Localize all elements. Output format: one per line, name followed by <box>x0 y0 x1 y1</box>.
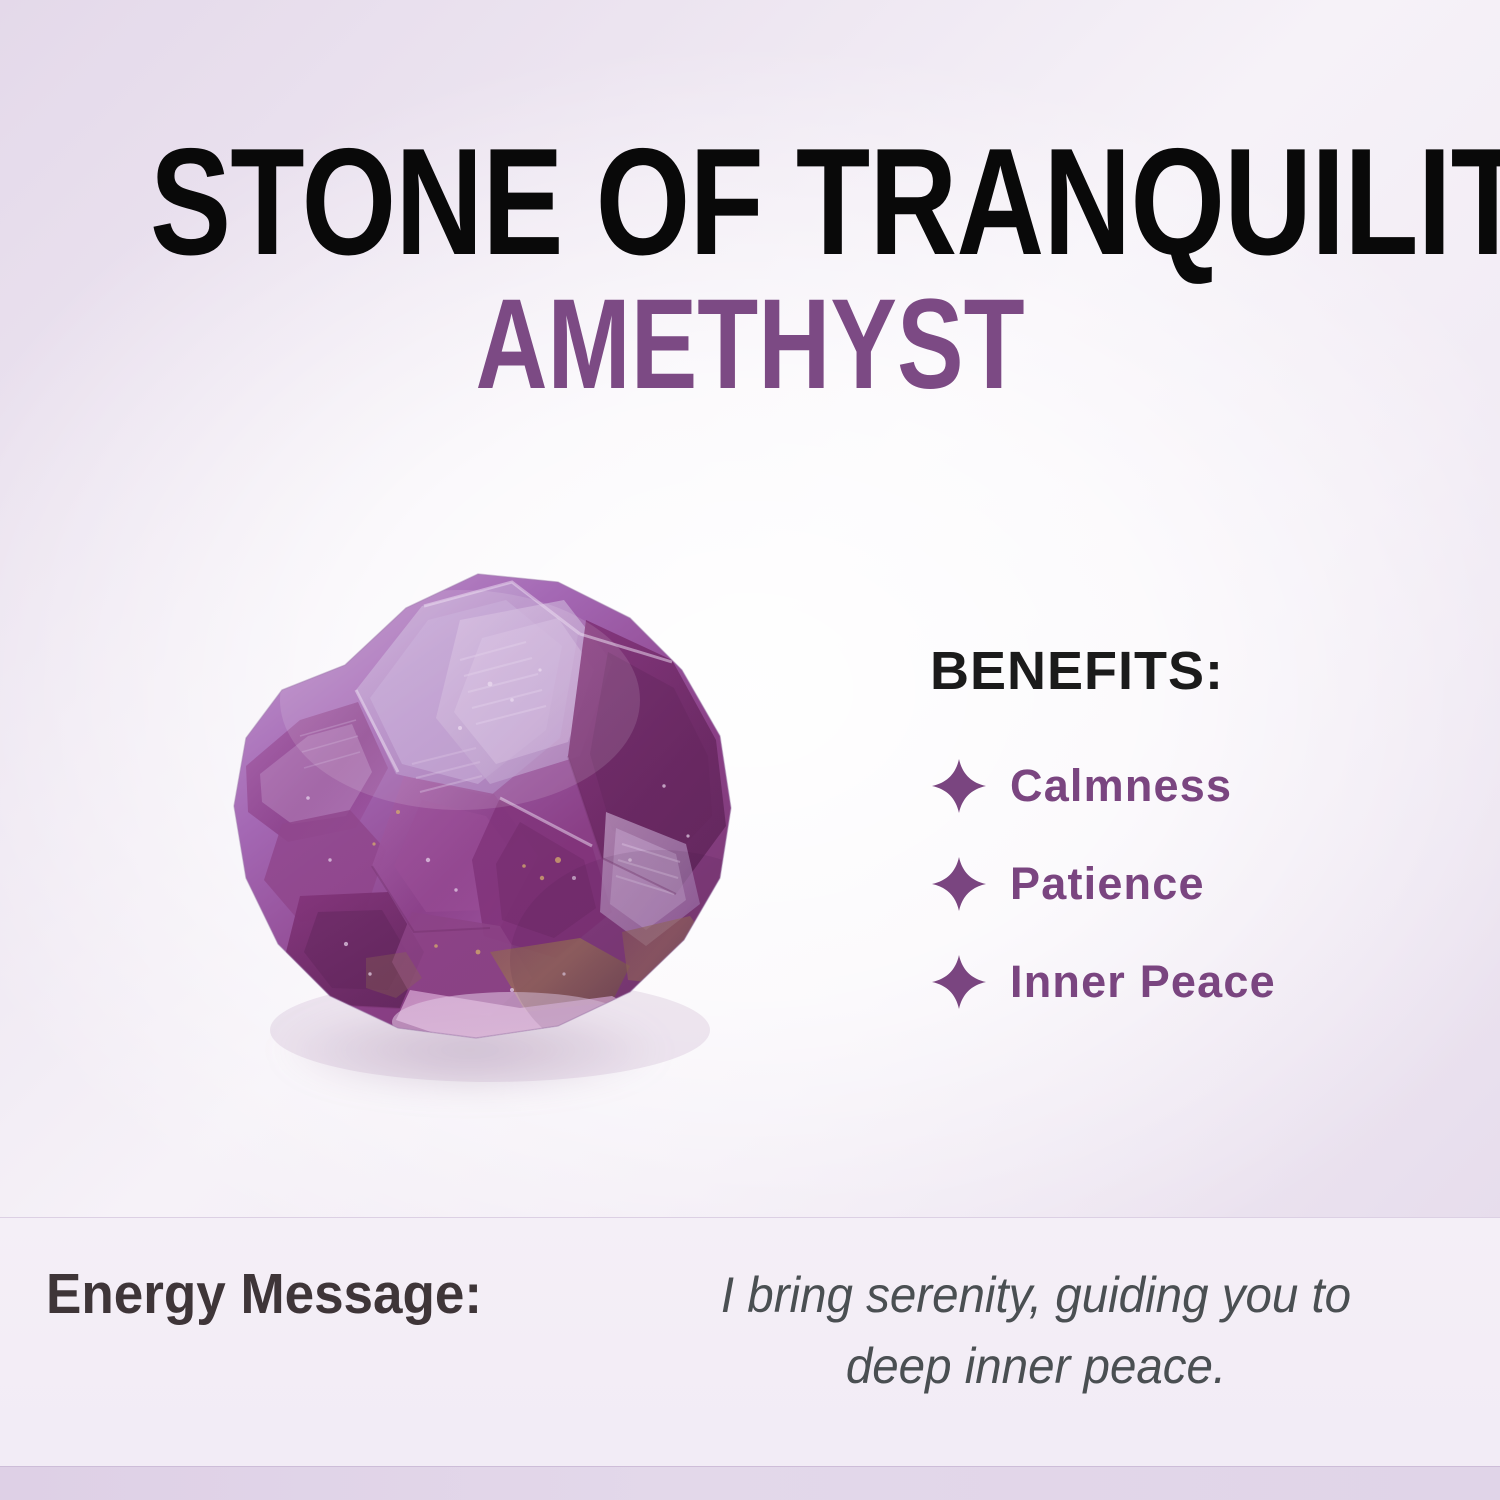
benefit-label: Patience <box>1010 858 1205 910</box>
crystal-image-container <box>160 560 790 1120</box>
benefits-heading: BENEFITS: <box>930 640 1360 702</box>
poster-canvas: STONE OF TRANQUILITY AMETHYST <box>0 0 1500 1500</box>
page-subtitle: AMETHYST <box>165 281 1335 409</box>
benefit-label: Calmness <box>1010 760 1232 812</box>
energy-message-text: I bring serenity, guiding you to deep in… <box>666 1260 1407 1402</box>
benefit-item-patience: Patience <box>930 856 1360 912</box>
benefit-item-calmness: Calmness <box>930 758 1360 814</box>
energy-message-label: Energy Message: <box>46 1266 482 1323</box>
benefits-section: BENEFITS: Calmness Patience <box>930 640 1360 1052</box>
sparkle-icon <box>930 953 988 1011</box>
benefit-item-inner-peace: Inner Peace <box>930 954 1360 1010</box>
page-title: STONE OF TRANQUILITY <box>150 126 1350 278</box>
bottom-accent-bar <box>0 1466 1500 1500</box>
benefit-label: Inner Peace <box>1010 956 1276 1008</box>
sparkle-icon <box>930 757 988 815</box>
sparkle-icon <box>930 855 988 913</box>
amethyst-crystal-photo <box>160 560 790 1100</box>
energy-message-band: Energy Message: I bring serenity, guidin… <box>0 1217 1500 1467</box>
